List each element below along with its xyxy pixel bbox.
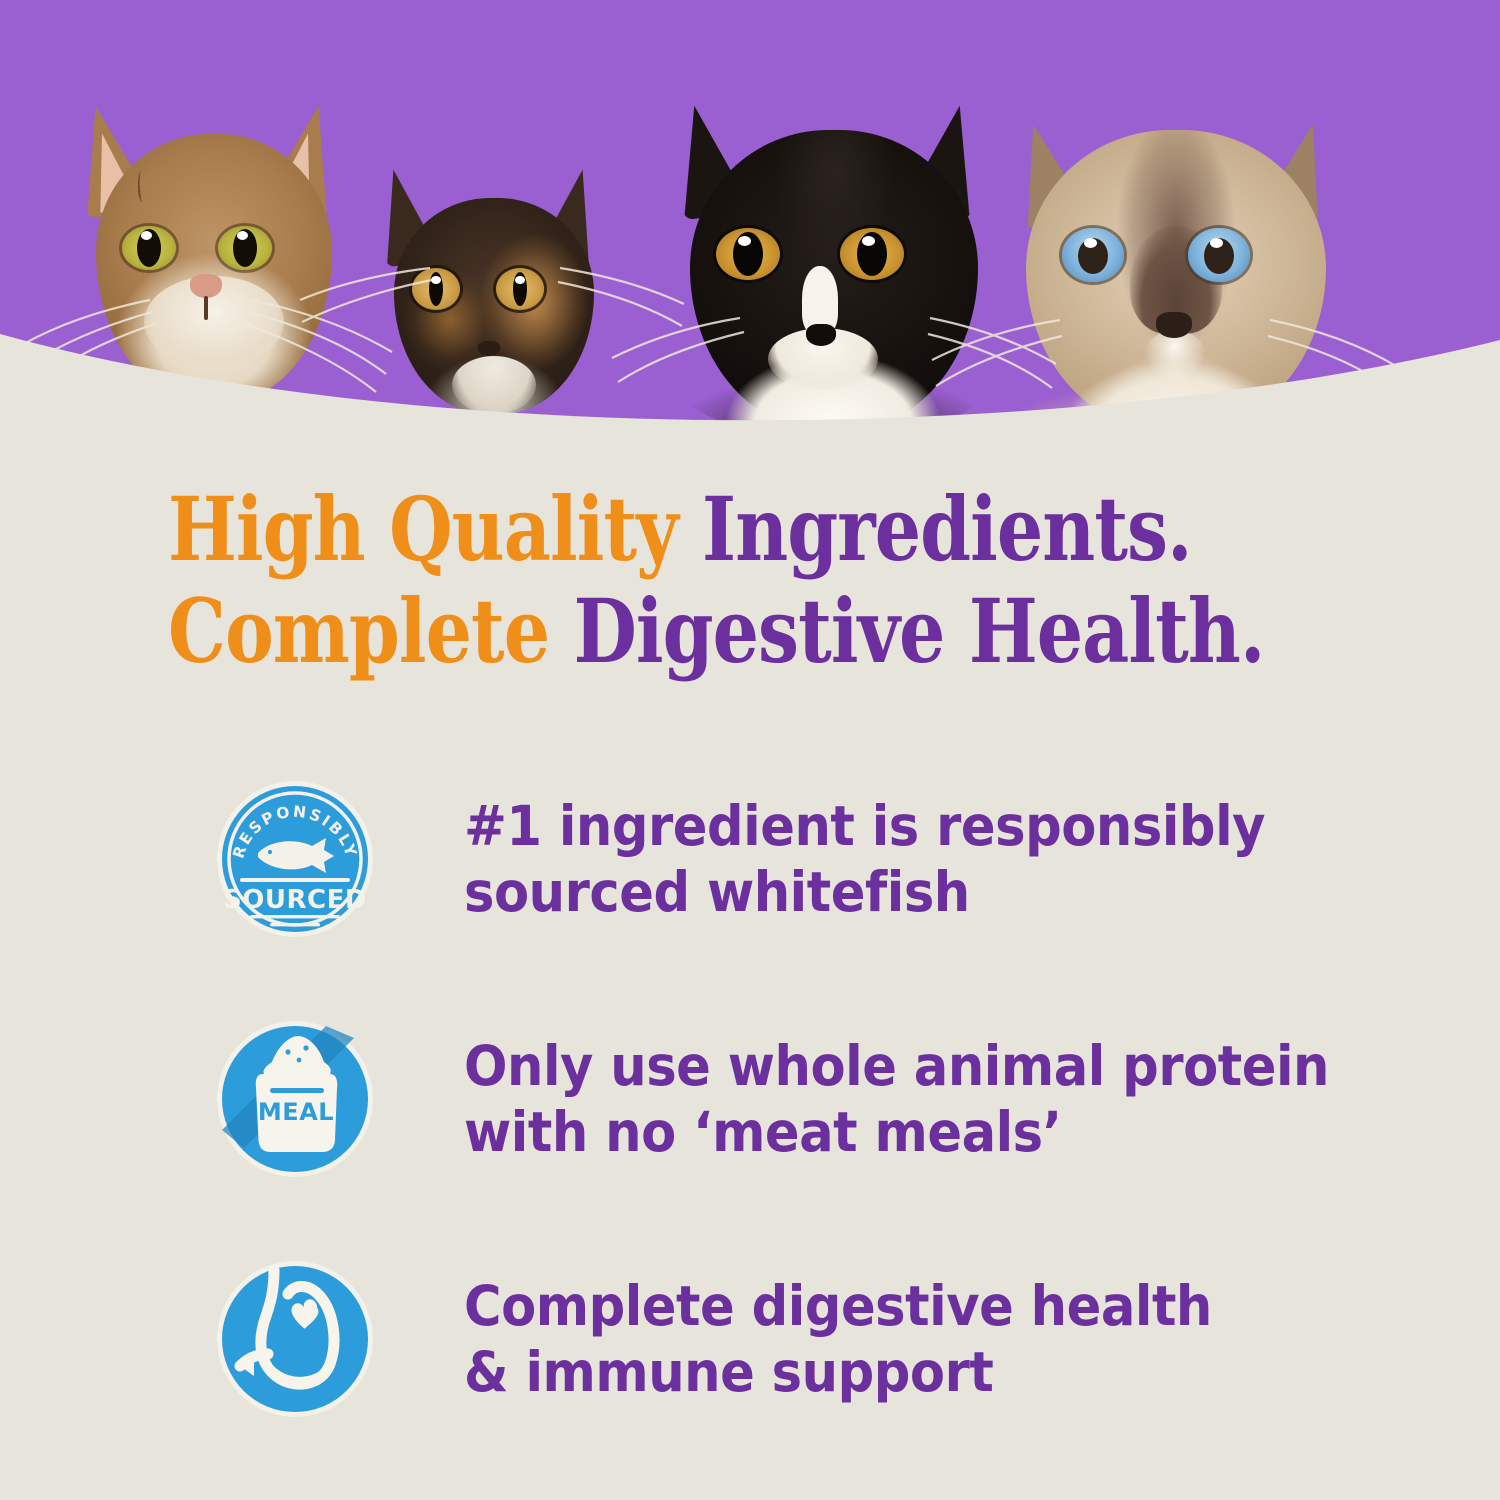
- cat-eye-glint-right: [515, 276, 525, 284]
- benefits-list: RESPONSIBLY SOURCED #1 ingredient is re: [214, 778, 1500, 1420]
- cat-eye-glint-left: [1084, 238, 1097, 248]
- cat-eye-glint-right: [862, 236, 875, 246]
- cat-eye-glint-left: [141, 231, 152, 240]
- cat-eye-glint-left: [738, 236, 751, 246]
- benefit-text: #1 ingredient is responsibly sourced whi…: [464, 793, 1265, 925]
- cat-eye-glint-right: [237, 231, 248, 240]
- headline-line2-purple: Digestive Health.: [574, 579, 1265, 683]
- benefit-text: Complete digestive health & immune suppo…: [464, 1273, 1212, 1405]
- list-item: Complete digestive health & immune suppo…: [214, 1258, 1500, 1420]
- cat-eye-glint-right: [1210, 238, 1223, 248]
- sack-label-text: MEAL: [258, 1098, 334, 1126]
- list-item: RESPONSIBLY SOURCED #1 ingredient is re: [214, 778, 1500, 940]
- cat-forehead-stripes: [138, 138, 288, 226]
- curved-divider: [0, 300, 1500, 430]
- stomach-heart-icon: [214, 1258, 376, 1420]
- hero-banner: [0, 0, 1500, 430]
- headline-line1-purple: Ingredients.: [702, 477, 1192, 581]
- page-title: High Quality Ingredients. Complete Diges…: [168, 478, 1300, 682]
- headline-line2-orange: Complete: [168, 579, 574, 683]
- meal-sack-icon: MEAL: [214, 1018, 376, 1180]
- badge-main-text: SOURCED: [223, 885, 367, 915]
- list-item: MEAL Only use whole animal protein with …: [214, 1018, 1500, 1180]
- cat-nose: [190, 274, 222, 298]
- cat-eye-glint-left: [431, 276, 441, 284]
- headline-line1-orange: High Quality: [168, 477, 702, 581]
- responsibly-sourced-fish-badge-icon: RESPONSIBLY SOURCED: [214, 778, 376, 940]
- content-section: High Quality Ingredients. Complete Diges…: [0, 430, 1500, 1420]
- benefit-text: Only use whole animal protein with no ‘m…: [464, 1033, 1329, 1165]
